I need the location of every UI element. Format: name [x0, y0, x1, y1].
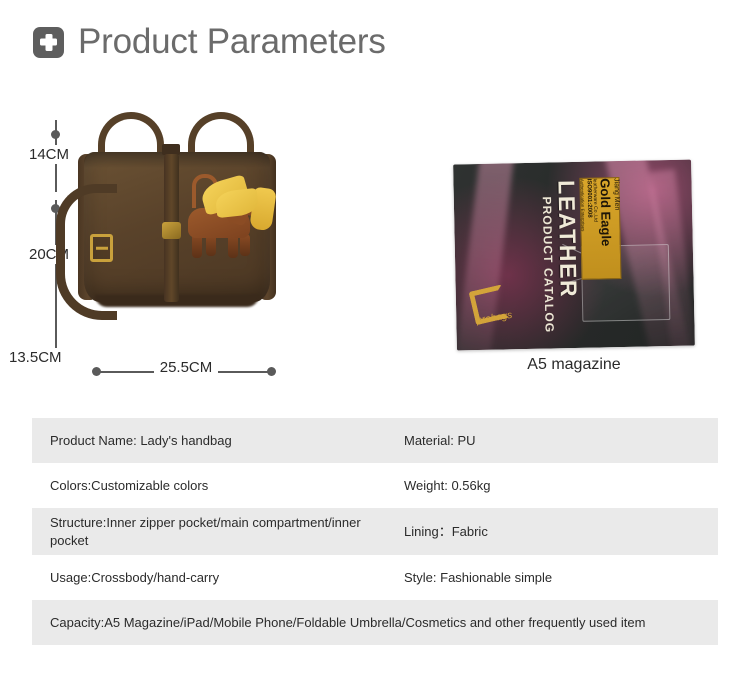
table-row: Structure:Inner zipper pocket/main compa… — [32, 508, 718, 555]
dimension-label-depth: 13.5CM — [6, 348, 65, 367]
magazine-image: LEATHER PRODUCT CATALOG Jiang Men Gold E… — [455, 162, 693, 348]
magazine-title-sub: PRODUCT CATALOG — [540, 196, 557, 333]
page-header: Product Parameters — [33, 22, 386, 62]
table-row: Usage:Crossbody/hand-carry Style: Fashio… — [32, 555, 718, 600]
handbag-image — [62, 110, 294, 360]
plus-square-icon — [33, 27, 64, 58]
magazine-caption: A5 magazine — [455, 356, 693, 374]
dimension-dot-top — [51, 130, 60, 139]
dimension-line-segment-right — [214, 371, 268, 373]
magazine-brand-logo: probags — [472, 287, 519, 326]
table-cell-style: Style: Fashionable simple — [387, 563, 718, 593]
magazine-cover: LEATHER PRODUCT CATALOG Jiang Men Gold E… — [453, 160, 695, 351]
product-visual-area: 14CM 20CM 13.5CM — [0, 100, 750, 400]
table-cell-weight: Weight: 0.56kg — [387, 471, 718, 501]
table-row: Capacity:A5 Magazine/iPad/Mobile Phone/F… — [32, 600, 718, 645]
magazine-title-main: LEATHER — [554, 180, 579, 299]
table-cell-usage: Usage:Crossbody/hand-carry — [32, 563, 387, 593]
table-row: Product Name: Lady's handbag Material: P… — [32, 418, 718, 463]
dimension-line-segment-left — [100, 371, 160, 373]
dimension-dot-right — [267, 367, 276, 376]
table-cell-lining: Lining：Fabric — [387, 517, 718, 547]
table-cell-product-name: Product Name: Lady's handbag — [32, 426, 387, 456]
gold-label-line2: Gold Eagle — [598, 178, 614, 278]
table-cell-structure: Structure:Inner zipper pocket/main compa… — [32, 508, 387, 555]
magazine-gold-label-text: Jiang Men Gold Eagle leatherware Co.,Ltd… — [579, 178, 621, 279]
table-cell-colors: Colors:Customizable colors — [32, 471, 387, 501]
table-cell-material: Material: PU — [387, 426, 718, 456]
table-row: Colors:Customizable colors Weight: 0.56k… — [32, 463, 718, 508]
bag-logo-plate — [162, 222, 181, 239]
pegasus-charm — [180, 172, 280, 262]
page-title: Product Parameters — [78, 22, 386, 62]
magazine-gold-label: Jiang Men Gold Eagle leatherware Co.,Ltd… — [579, 177, 621, 280]
product-parameters-table: Product Name: Lady's handbag Material: P… — [32, 418, 718, 645]
horizontal-dimension-rail: 25.5CM — [92, 366, 276, 378]
bag-strap-buckle — [90, 234, 113, 262]
dimension-label-width: 25.5CM — [154, 359, 218, 376]
table-cell-capacity: Capacity:A5 Magazine/iPad/Mobile Phone/F… — [32, 608, 718, 638]
